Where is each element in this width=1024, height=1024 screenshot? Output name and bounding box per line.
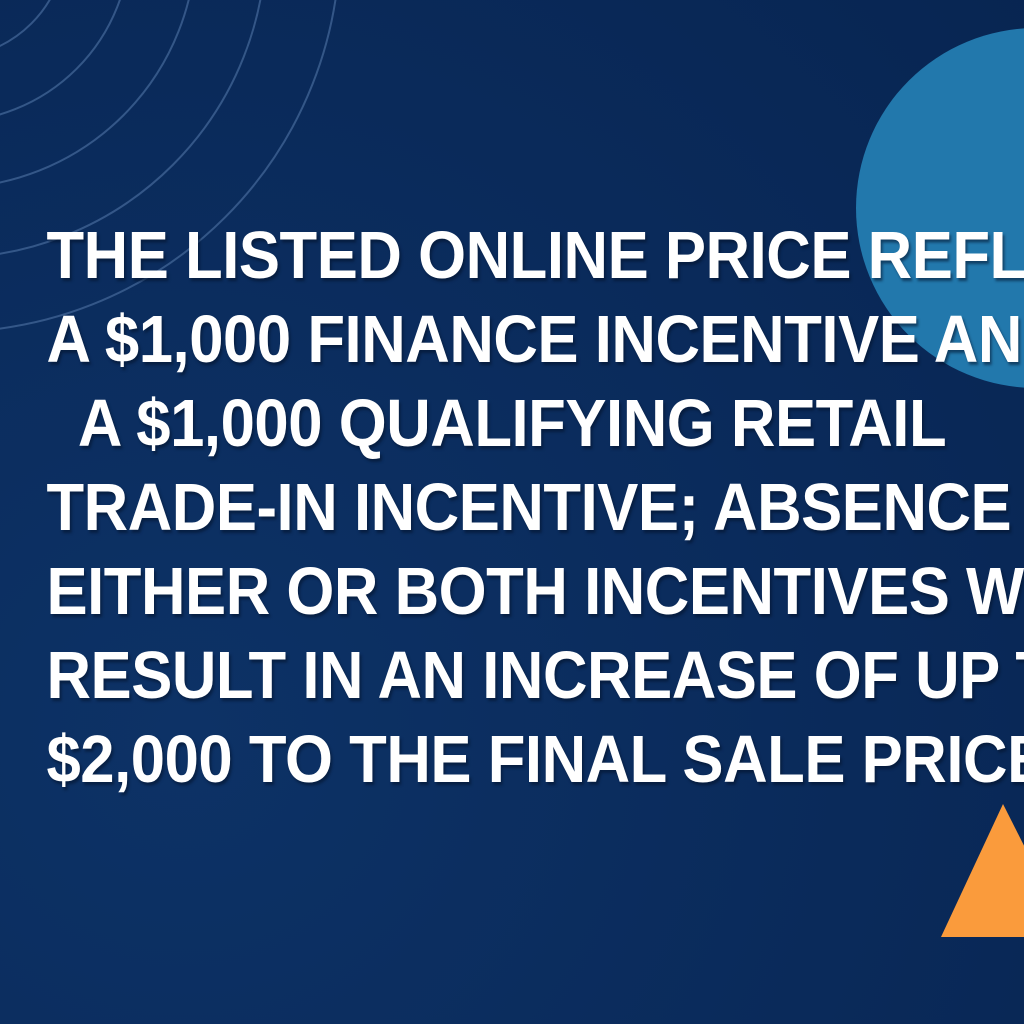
- headline-line-5: EITHER OR BOTH INCENTIVES WILL: [46, 550, 977, 634]
- headline-line-2: A $1,000 FINANCE INCENTIVE AND: [46, 298, 977, 382]
- promo-graphic-canvas: THE LISTED ONLINE PRICE REFLECTS A $1,00…: [0, 0, 1024, 1024]
- headline-line-6: RESULT IN AN INCREASE OF UP TO: [46, 634, 977, 718]
- headline-line-7: $2,000 TO THE FINAL SALE PRICE.: [46, 718, 977, 802]
- orange-triangle-decoration: [941, 804, 1024, 937]
- headline-block: THE LISTED ONLINE PRICE REFLECTS A $1,00…: [0, 214, 1024, 802]
- headline-line-4: TRADE-IN INCENTIVE; ABSENCE OF: [46, 466, 977, 550]
- headline-line-3: A $1,000 QUALIFYING RETAIL: [46, 382, 977, 466]
- headline-line-1: THE LISTED ONLINE PRICE REFLECTS: [46, 214, 977, 298]
